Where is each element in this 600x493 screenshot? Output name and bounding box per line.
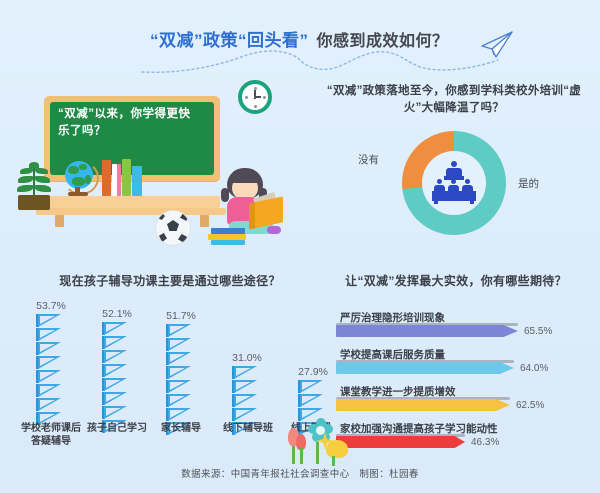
flag-column-2: 51.7% bbox=[152, 310, 210, 415]
flag-value-1: 52.1% bbox=[88, 308, 146, 320]
flag-label-1: 孩子自己学习 bbox=[86, 422, 148, 435]
flag-stack-1 bbox=[102, 322, 128, 434]
classroom-lecture-icon bbox=[432, 161, 476, 203]
flag-column-3: 31.0% bbox=[218, 352, 276, 415]
flag-value-2: 51.7% bbox=[152, 310, 210, 322]
dotted-swoosh-decoration bbox=[140, 48, 500, 76]
sparkle-icon bbox=[316, 432, 334, 450]
blackboard-shelf bbox=[44, 196, 220, 208]
bar-value-2: 62.5% bbox=[516, 400, 544, 411]
paper-plane-icon bbox=[478, 30, 514, 60]
bar-chart-question: 让“双减”发挥最大实效，你有哪些期待？ bbox=[320, 272, 592, 289]
page-title: “双减”政策“回头看”你感到成效如何？ bbox=[150, 26, 449, 51]
bar-row-0: 严厉治理隐形培训现象 65.5% bbox=[336, 310, 590, 346]
bar-row-1: 学校提高课后服务质量 64.0% bbox=[336, 347, 590, 383]
bar-value-1: 64.0% bbox=[520, 363, 548, 374]
bar-row-3: 家校加强沟通提高孩子学习能动性 46.3% bbox=[336, 421, 590, 457]
blackboard-text: “双减”以来，你学得更快乐了吗？ bbox=[58, 106, 198, 140]
bar-value-0: 65.5% bbox=[524, 326, 552, 337]
donut-label-no: 没有 bbox=[358, 152, 379, 167]
book-stack-cyan bbox=[211, 240, 245, 245]
flag-stack-2 bbox=[166, 324, 192, 436]
flag-column-1: 52.1% bbox=[88, 308, 146, 415]
clock-icon bbox=[238, 80, 272, 114]
globe-icon bbox=[63, 161, 96, 194]
flower-stem-1 bbox=[292, 446, 295, 464]
bar-fill-2 bbox=[336, 399, 510, 411]
bar-fill-1 bbox=[336, 362, 514, 374]
title-highlight: “双减”政策“回头看” bbox=[150, 31, 309, 50]
book-pink bbox=[117, 164, 121, 196]
infographic-page: “双减”政策“回头看”你感到成效如何？ “双减”以来，你学得更快乐了吗？ bbox=[0, 0, 600, 493]
flag-label-0: 学校老师课后答疑辅导 bbox=[18, 422, 84, 448]
shelf-leg-left bbox=[55, 215, 64, 227]
footer-source: 数据来源：中国青年报社社会调查中心 制图：杜园春 bbox=[0, 466, 600, 480]
donut-question: “双减”政策落地至今，你感到学科类校外培训“虚火”大幅降温了吗？ bbox=[316, 83, 592, 117]
donut-label-yes: 是的 bbox=[518, 176, 539, 191]
flag-label-2: 家长辅导 bbox=[148, 422, 214, 435]
bar-fill-3 bbox=[336, 436, 465, 448]
flag-stack-0 bbox=[36, 314, 62, 426]
bar-value-3: 46.3% bbox=[471, 437, 499, 448]
bar-row-2: 课堂教学进一步提质增效 62.5% bbox=[336, 384, 590, 420]
book-green bbox=[122, 159, 131, 196]
flag-value-0: 53.7% bbox=[22, 300, 80, 312]
bar-fill-0 bbox=[336, 325, 518, 337]
flag-value-4: 27.9% bbox=[284, 366, 342, 378]
book-blue bbox=[132, 166, 142, 196]
flag-label-3: 线下辅导班 bbox=[212, 422, 284, 435]
header: “双减”政策“回头看”你感到成效如何？ bbox=[0, 12, 600, 62]
book-orange bbox=[102, 160, 111, 196]
shelf-ledge bbox=[36, 208, 226, 215]
flag-chart-question: 现在孩子辅导功课主要是通过哪些途径？ bbox=[22, 272, 318, 289]
flower-stem-2 bbox=[300, 448, 303, 464]
flower-stem-4 bbox=[332, 456, 335, 466]
flag-column-4: 27.9% bbox=[284, 366, 342, 415]
flag-column-0: 53.7% bbox=[22, 300, 80, 415]
bottom-strip bbox=[0, 484, 600, 493]
title-subtext: 你感到成效如何？ bbox=[317, 33, 449, 50]
plant-icon bbox=[16, 162, 52, 210]
flag-value-3: 31.0% bbox=[218, 352, 276, 364]
soccer-ball-icon bbox=[155, 210, 191, 246]
